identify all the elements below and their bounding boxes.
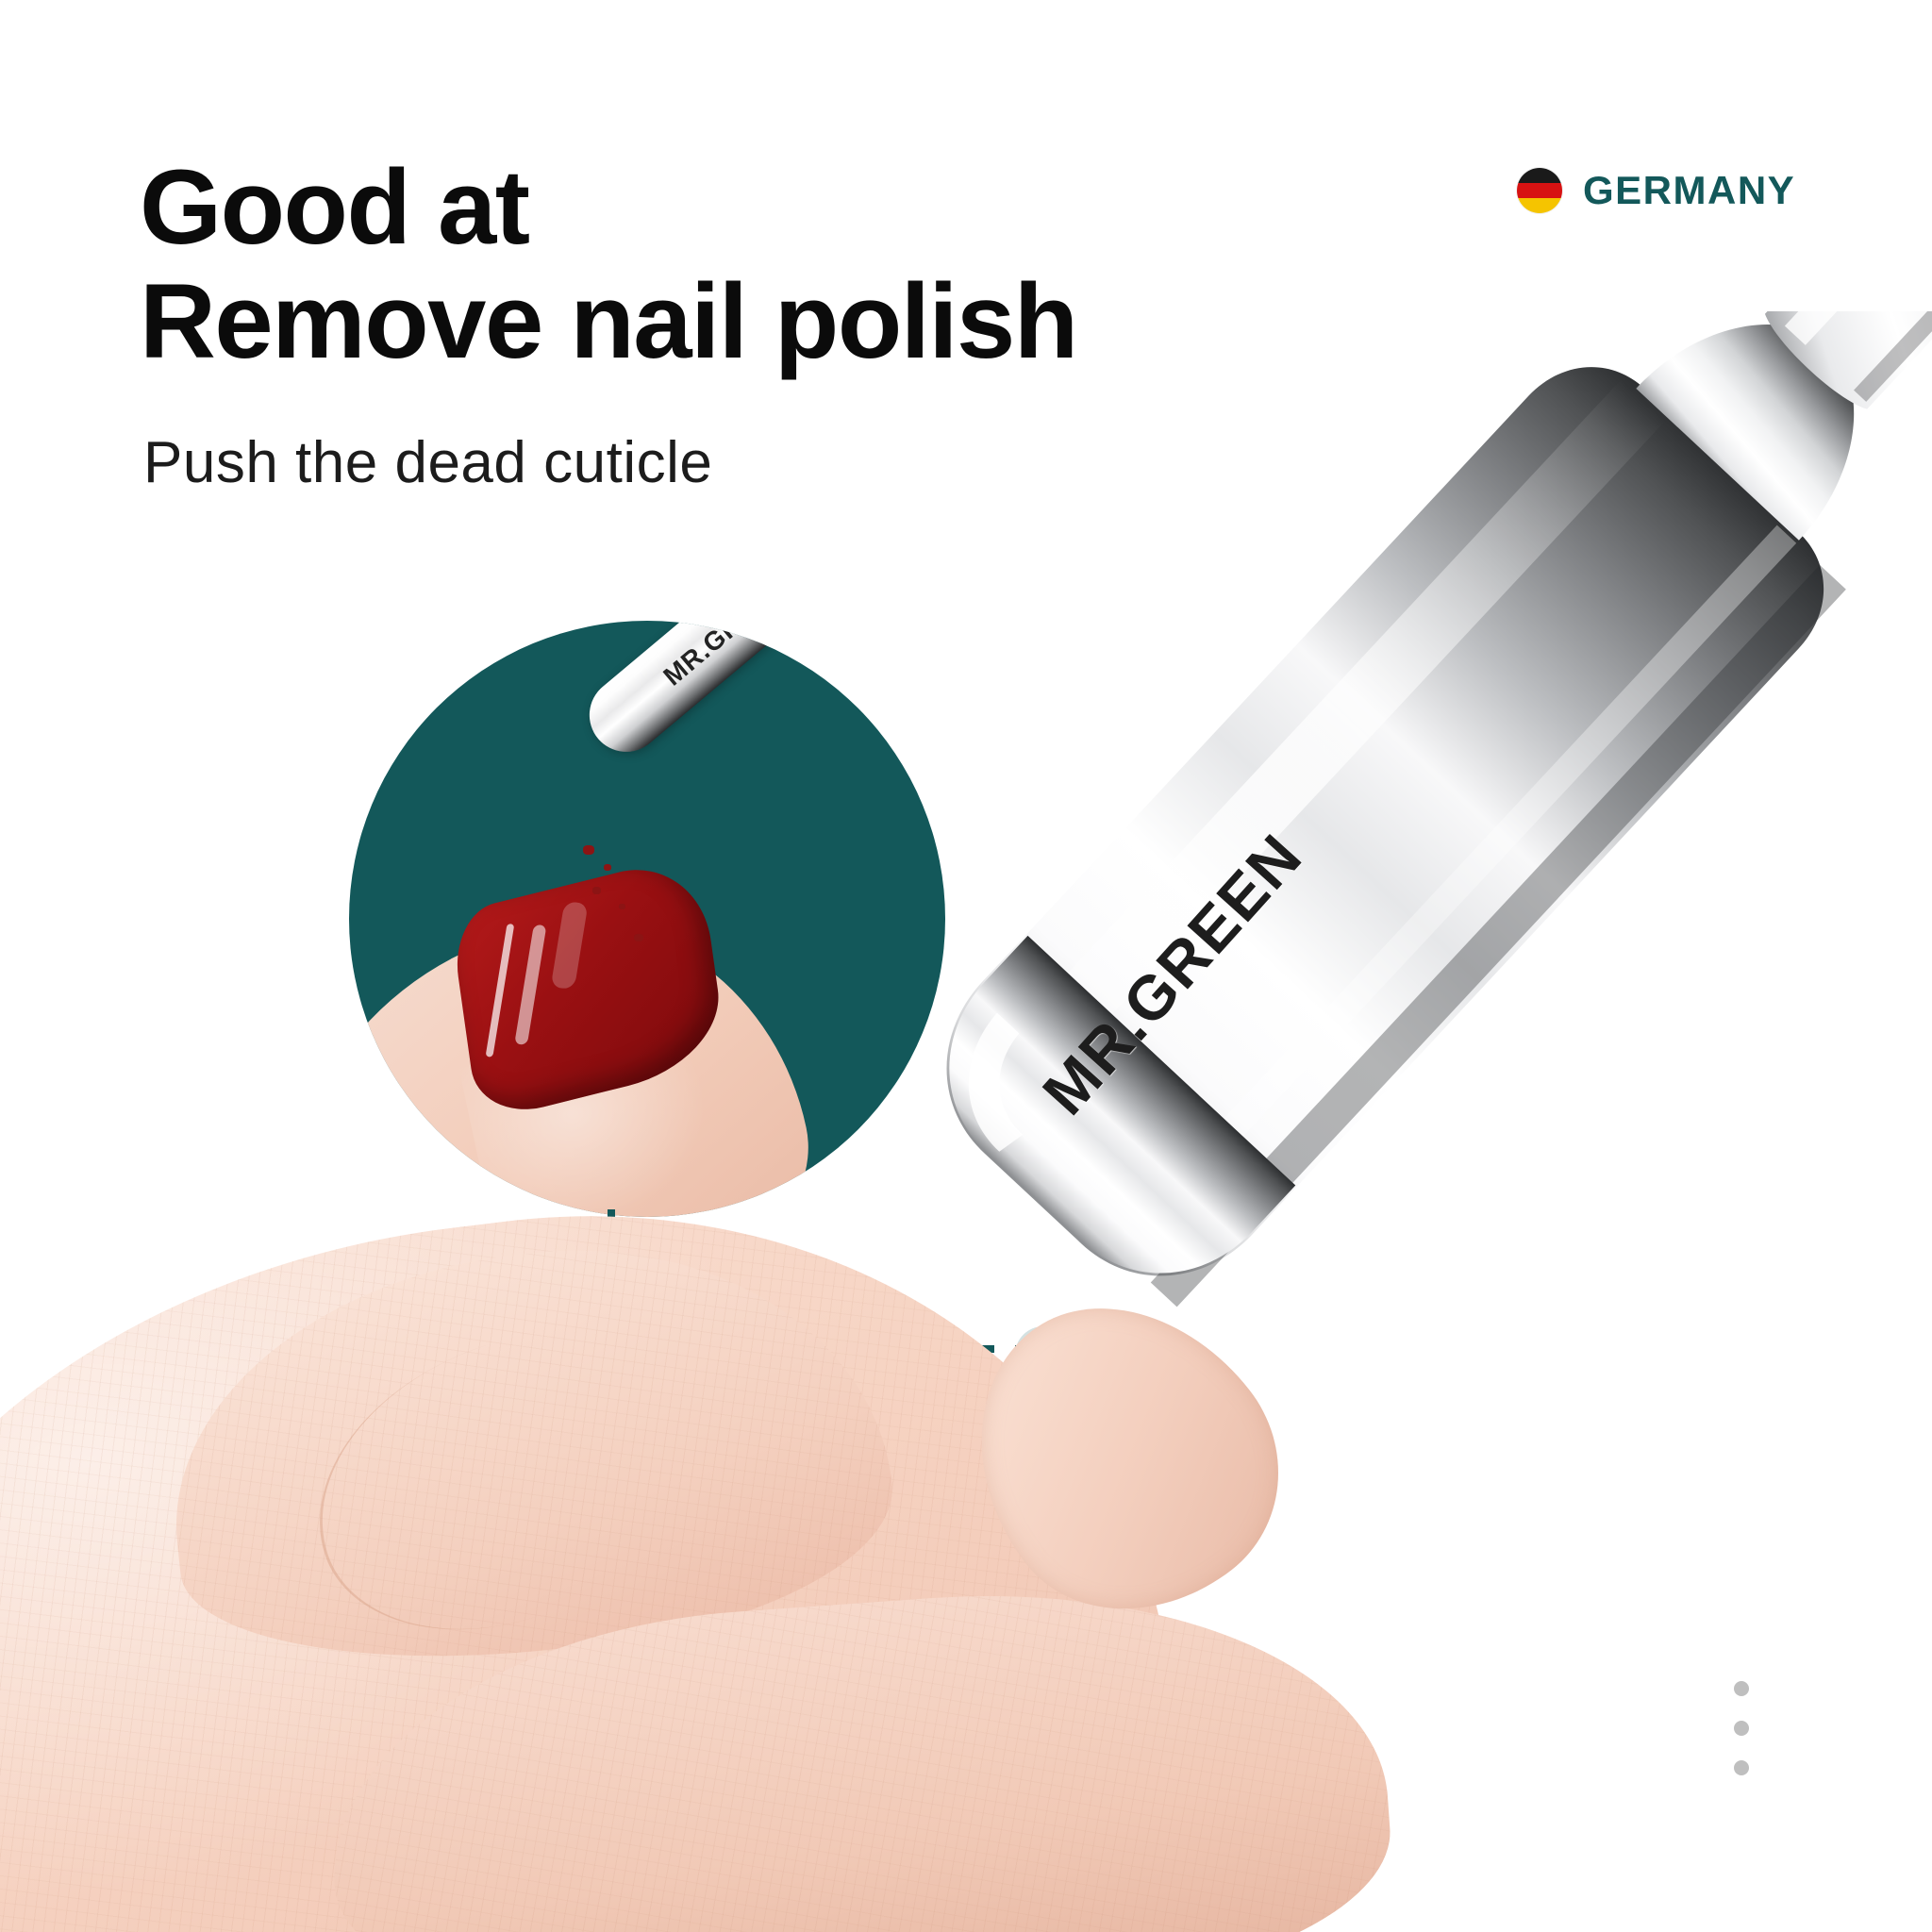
germany-badge: GERMANY <box>1517 168 1795 213</box>
nail-gloss-highlight <box>514 924 546 1045</box>
inset-blade-brand: MR.GREEN <box>658 621 791 692</box>
indicator-dot <box>1734 1760 1749 1775</box>
product-marketing-image: Good atRemove nail polish Push the dead … <box>0 0 1932 1932</box>
inset-steel-blade: MR.GREEN <box>575 621 865 767</box>
more-indicator[interactable] <box>1734 1681 1749 1775</box>
germany-label: GERMANY <box>1583 168 1795 213</box>
indicator-dot <box>1734 1721 1749 1736</box>
polish-fleck <box>619 904 625 909</box>
polish-fleck <box>604 864 611 871</box>
nail-gloss-highlight <box>550 901 588 989</box>
german-flag-circle-icon <box>1517 168 1562 213</box>
polish-fleck <box>583 845 594 855</box>
headline-line-2: Remove nail polish <box>140 265 1077 379</box>
polish-fleck <box>634 934 643 941</box>
nail-gloss-highlight <box>486 924 515 1057</box>
inset-detail-circle: MR.GREEN <box>349 621 945 1217</box>
headline-line-1: Good at <box>140 148 529 266</box>
tool-brand-engraving: MR.GREEN <box>1028 820 1316 1128</box>
polish-fleck <box>592 887 601 894</box>
indicator-dot <box>1734 1681 1749 1696</box>
page-subtitle: Push the dead cuticle <box>143 429 712 496</box>
page-title: Good atRemove nail polish <box>140 151 1077 379</box>
